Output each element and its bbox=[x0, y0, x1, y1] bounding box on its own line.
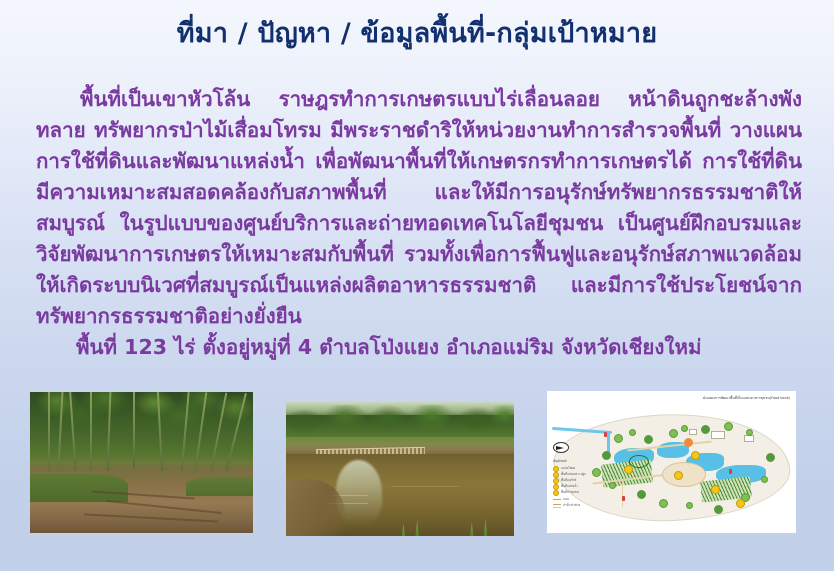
legend-item-2: พื้นที่แปลงเพาะปลูก bbox=[553, 472, 586, 477]
legend-line-stream: ลำน้ำ/ลำห้วย bbox=[553, 503, 580, 508]
legend-label: พื้นที่อนุรักษ์ bbox=[561, 479, 576, 482]
legend-label: ถนน bbox=[563, 498, 569, 501]
legend-label: พื้นที่ป่าชุมชน bbox=[561, 491, 579, 494]
legend-dot-icon bbox=[553, 490, 559, 496]
map-pin-south bbox=[622, 496, 625, 501]
body-text-block: พื้นที่เป็นเขาหัวโล้น ราษฎรทำการเกษตรแบบ… bbox=[36, 84, 802, 363]
master-plan-map: ผังแสดงการพัฒนาพื้นที่เป็นแหล่งอาหารชุมช… bbox=[547, 391, 796, 533]
legend-item-5: พื้นที่ป่าชุมชน bbox=[553, 490, 579, 495]
photo-forest[interactable] bbox=[30, 392, 253, 533]
legend-label: พื้นที่แปลงเพาะปลูก bbox=[561, 473, 586, 476]
body-paragraph-2: พื้นที่ 123 ไร่ ตั้งอยู่หมู่ที่ 4 ตำบลโป… bbox=[36, 332, 802, 363]
map-central-hub bbox=[662, 462, 706, 487]
legend-item-3: พื้นที่อนุรักษ์ bbox=[553, 478, 576, 483]
map-title: ผังแสดงการพัฒนาพื้นที่เป็นแหล่งอาหารชุมช… bbox=[701, 395, 792, 402]
legend-label: แปลงไม้ผล bbox=[561, 467, 575, 470]
legend-item-4: พื้นที่แหล่งน้ำ bbox=[553, 484, 578, 489]
photo-map[interactable]: ผังแสดงการพัฒนาพื้นที่เป็นแหล่งอาหารชุมช… bbox=[547, 391, 796, 533]
legend-line-road: ถนน bbox=[553, 497, 569, 502]
forest-scene-illustration bbox=[30, 392, 253, 533]
map-marker-4 bbox=[711, 485, 720, 494]
legend-item-1: แปลงไม้ผล bbox=[553, 466, 575, 471]
photo-pond[interactable] bbox=[286, 401, 514, 536]
map-highlight-marker bbox=[684, 438, 693, 447]
road-line-icon bbox=[553, 499, 561, 500]
map-legend: สัญลักษณ์ แปลงไม้ผล พื้นที่แปลงเพาะปลูก … bbox=[551, 453, 607, 524]
map-marker-1 bbox=[624, 465, 633, 474]
forest-grass-right bbox=[186, 477, 253, 497]
photo-row: ผังแสดงการพัฒนาพื้นที่เป็นแหล่งอาหารชุมช… bbox=[0, 388, 834, 568]
map-marker-2 bbox=[674, 471, 683, 480]
map-pin-east bbox=[729, 469, 732, 474]
slide-root: ที่มา / ปัญหา / ข้อมูลพื้นที่-กลุ่มเป้าห… bbox=[0, 0, 834, 571]
page-title: ที่มา / ปัญหา / ข้อมูลพื้นที่-กลุ่มเป้าห… bbox=[0, 18, 834, 50]
pond-scene-illustration bbox=[286, 401, 514, 536]
legend-label: พื้นที่แหล่งน้ำ bbox=[561, 485, 578, 488]
map-road-spur bbox=[622, 479, 624, 507]
map-pin-west bbox=[604, 432, 607, 437]
legend-label: ลำน้ำ/ลำห้วย bbox=[563, 504, 580, 507]
map-marker-3 bbox=[691, 451, 700, 460]
forest-grass-left bbox=[30, 474, 128, 502]
stream-line-icon bbox=[553, 504, 561, 508]
map-legend-title: สัญลักษณ์ bbox=[553, 459, 567, 464]
body-paragraph-1: พื้นที่เป็นเขาหัวโล้น ราษฎรทำการเกษตรแบบ… bbox=[36, 84, 802, 332]
